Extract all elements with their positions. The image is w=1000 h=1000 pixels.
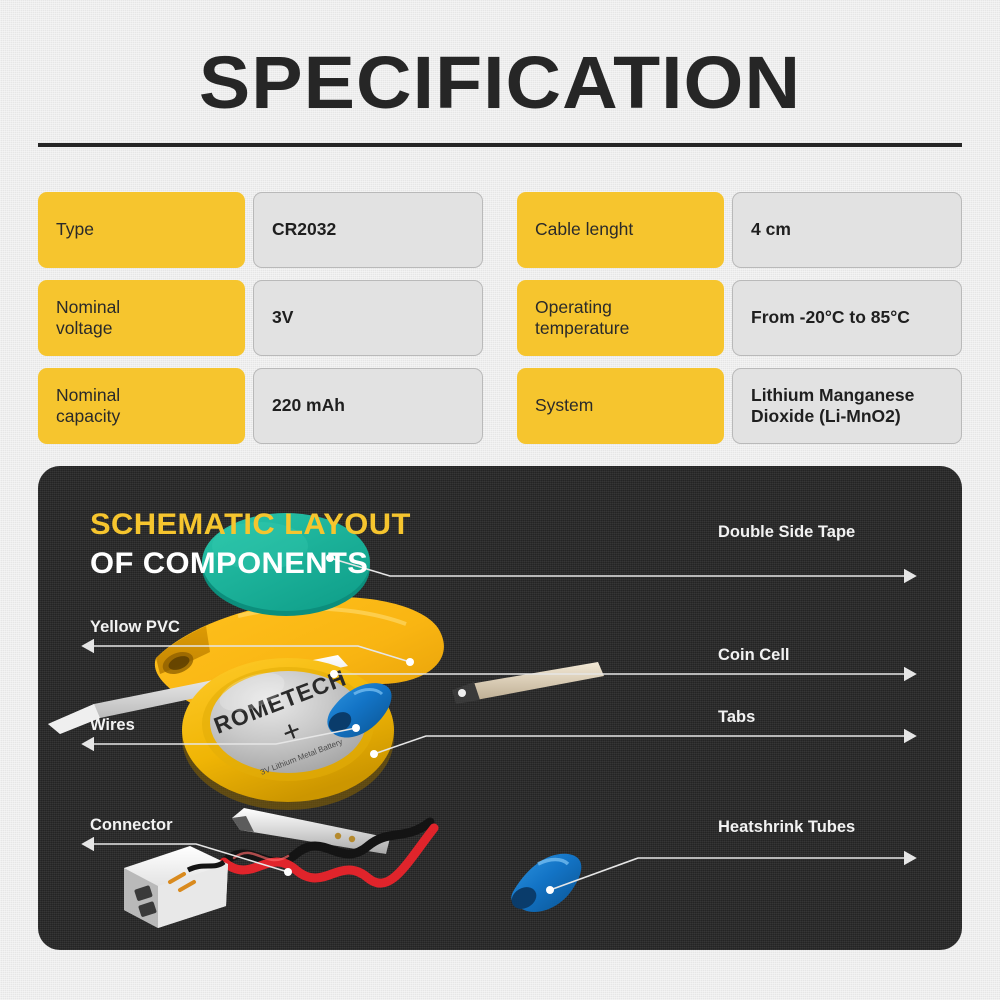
spec-row: Operatingtemperature From -20°C to 85°C: [517, 280, 962, 356]
spec-value-nominal-capacity: 220 mAh: [253, 368, 483, 444]
leader-line-double-side-tape: [330, 558, 904, 576]
spec-row: Cable lenght 4 cm: [517, 192, 962, 268]
spec-value-cable-length: 4 cm: [732, 192, 962, 268]
callout-label-double-side-tape: Double Side Tape: [718, 523, 855, 542]
spec-column-left: Type CR2032 Nominalvoltage 3V Nominalcap…: [38, 192, 483, 444]
title-divider: [38, 143, 962, 147]
callout-label-wires: Wires: [90, 716, 135, 735]
callout-label-yellow-pvc: Yellow PVC: [90, 618, 180, 637]
spec-row: Nominalvoltage 3V: [38, 280, 483, 356]
callout-label-heatshrink-tubes: Heatshrink Tubes: [718, 818, 855, 837]
leader-line-tabs: [374, 736, 904, 754]
schematic-heading: SCHEMATIC LAYOUT OF COMPONENTS: [90, 508, 401, 581]
callout-label-coin-cell: Coin Cell: [718, 646, 790, 665]
spec-label-nominal-capacity: Nominalcapacity: [38, 368, 245, 444]
spec-label-nominal-voltage: Nominalvoltage: [38, 280, 245, 356]
callout-label-tabs: Tabs: [718, 708, 755, 727]
leader-line-heatshrink-tubes: [550, 858, 904, 890]
leader-line-connector: [94, 844, 288, 872]
schematic-layout-panel: ROMETECH + 3V Lithium Metal Battery: [38, 466, 962, 950]
schematic-heading-line1: SCHEMATIC LAYOUT: [90, 508, 411, 542]
spec-value-operating-temperature: From -20°C to 85°C: [732, 280, 962, 356]
page-title: SPECIFICATION: [0, 46, 1000, 120]
callout-label-connector: Connector: [90, 816, 173, 835]
spec-row: Nominalcapacity 220 mAh: [38, 368, 483, 444]
header: SPECIFICATION: [0, 0, 1000, 165]
spec-row: Type CR2032: [38, 192, 483, 268]
spec-value-type: CR2032: [253, 192, 483, 268]
schematic-heading-line2: OF COMPONENTS: [90, 547, 411, 581]
spec-value-nominal-voltage: 3V: [253, 280, 483, 356]
spec-label-system: System: [517, 368, 724, 444]
spec-label-cable-length: Cable lenght: [517, 192, 724, 268]
spec-value-system: Lithium ManganeseDioxide (Li-MnO2): [732, 368, 962, 444]
spec-row: System Lithium ManganeseDioxide (Li-MnO2…: [517, 368, 962, 444]
spec-label-type: Type: [38, 192, 245, 268]
specification-table: Type CR2032 Nominalvoltage 3V Nominalcap…: [38, 192, 962, 444]
spec-label-operating-temperature: Operatingtemperature: [517, 280, 724, 356]
spec-column-right: Cable lenght 4 cm Operatingtemperature F…: [517, 192, 962, 444]
leader-line-yellow-pvc: [94, 646, 410, 662]
